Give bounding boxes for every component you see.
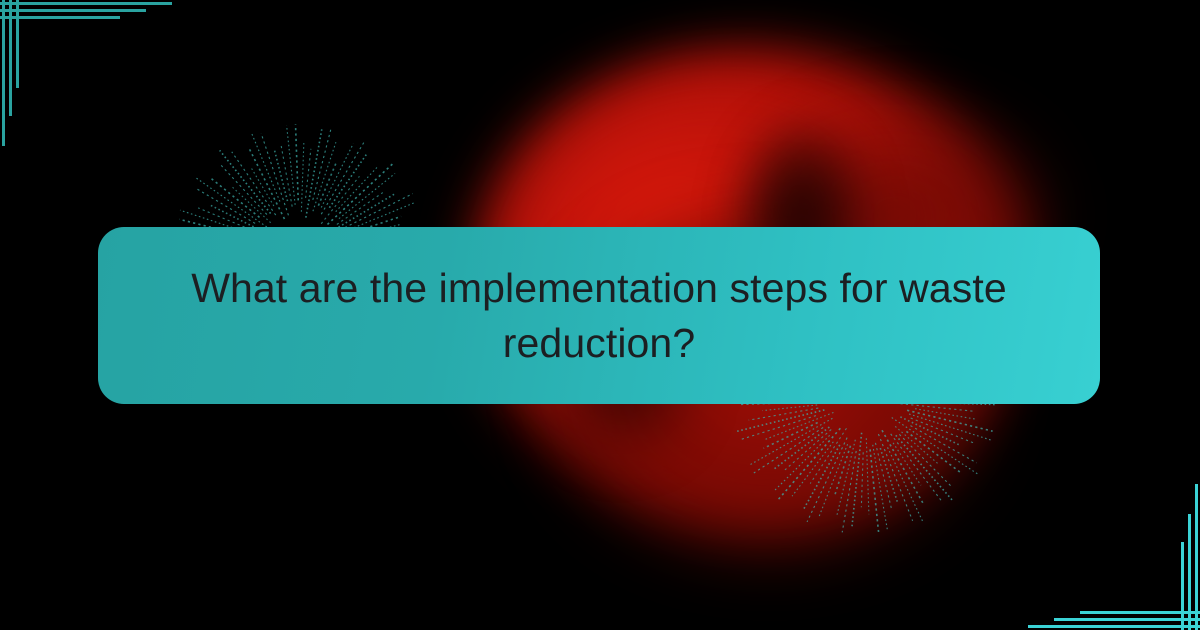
corner-line-vertical [16,0,19,88]
corner-line-horizontal [0,9,146,12]
corner-line-vertical [1188,514,1191,630]
corner-line-horizontal [1028,625,1200,628]
corner-line-vertical [1181,542,1184,630]
question-card-canvas: What are the implementation steps for wa… [0,0,1200,630]
corner-line-horizontal [0,16,120,19]
question-text: What are the implementation steps for wa… [144,261,1054,369]
corner-line-horizontal [0,2,172,5]
corner-frame-bottom-right [1028,484,1200,630]
corner-line-vertical [9,0,12,116]
corner-line-vertical [2,0,5,146]
corner-line-horizontal [1054,618,1200,621]
question-banner: What are the implementation steps for wa… [98,227,1100,404]
corner-line-horizontal [1080,611,1200,614]
corner-line-vertical [1195,484,1198,630]
corner-frame-top-left [0,0,172,146]
